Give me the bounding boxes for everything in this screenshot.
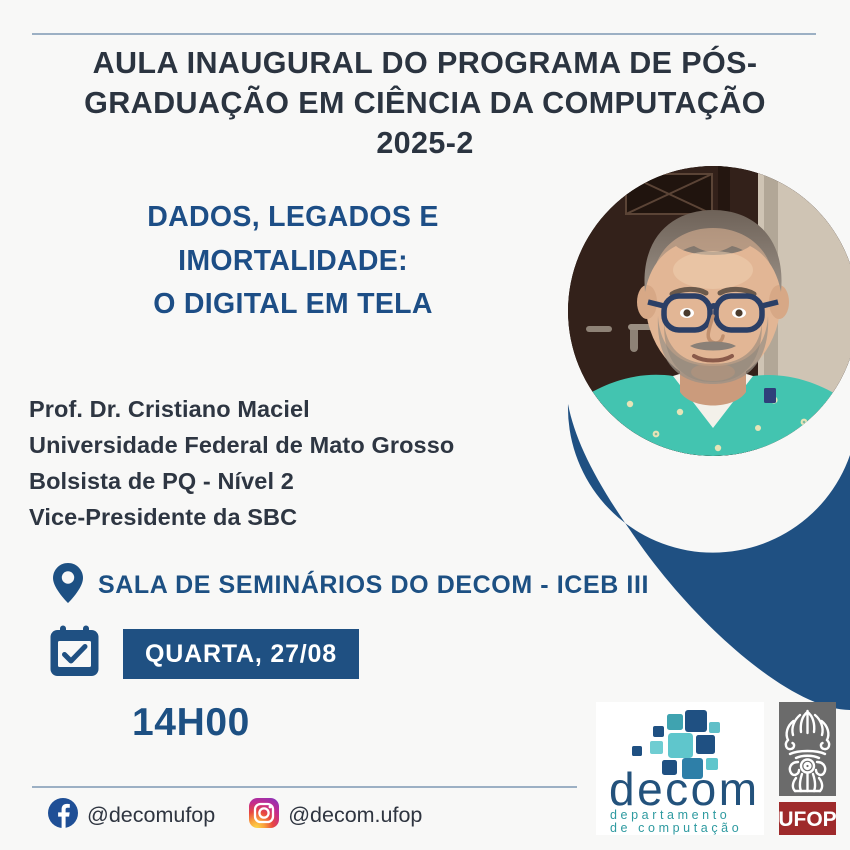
headline-line-2: GRADUAÇÃO EM CIÊNCIA DA COMPUTAÇÃO <box>55 84 795 124</box>
decom-logo: decom departamento de computação <box>596 702 764 835</box>
headline-line-1: AULA INAUGURAL DO PROGRAMA DE PÓS- <box>55 44 795 84</box>
map-pin-icon <box>52 562 84 609</box>
top-divider <box>32 33 816 35</box>
talk-title-line-1: DADOS, LEGADOS E <box>38 196 548 240</box>
speaker-role: Vice-Presidente da SBC <box>29 500 454 536</box>
facebook-link[interactable]: @decomufop <box>48 798 215 833</box>
facebook-icon[interactable] <box>48 798 78 833</box>
decom-tagline-1: departamento <box>610 808 730 822</box>
ufop-label: UFOP <box>778 808 836 831</box>
speaker-info: Prof. Dr. Cristiano Maciel Universidade … <box>29 392 454 536</box>
instagram-handle[interactable]: @decom.ufop <box>288 803 422 828</box>
event-poster: AULA INAUGURAL DO PROGRAMA DE PÓS- GRADU… <box>0 0 850 850</box>
facebook-handle[interactable]: @decomufop <box>87 803 215 828</box>
headline-line-3: 2025-2 <box>55 124 795 164</box>
instagram-icon[interactable] <box>249 798 279 833</box>
date-row: QUARTA, 27/08 <box>47 624 359 684</box>
speaker-affiliation: Universidade Federal de Mato Grosso <box>29 428 454 464</box>
talk-title: DADOS, LEGADOS E IMORTALIDADE: O DIGITAL… <box>38 196 548 327</box>
instagram-link[interactable]: @decom.ufop <box>249 798 422 833</box>
speaker-photo <box>568 166 850 456</box>
bottom-divider <box>32 786 577 788</box>
event-time: 14H00 <box>132 703 250 742</box>
date-badge: QUARTA, 27/08 <box>123 629 359 679</box>
talk-title-line-2: IMORTALIDADE: <box>38 240 548 284</box>
calendar-check-icon <box>47 624 102 684</box>
speaker-grant: Bolsista de PQ - Nível 2 <box>29 464 454 500</box>
speaker-name: Prof. Dr. Cristiano Maciel <box>29 392 454 428</box>
location-row: SALA DE SEMINÁRIOS DO DECOM - ICEB III <box>52 562 649 609</box>
location-text: SALA DE SEMINÁRIOS DO DECOM - ICEB III <box>98 571 649 600</box>
poster-headline: AULA INAUGURAL DO PROGRAMA DE PÓS- GRADU… <box>55 44 795 164</box>
ufop-logo: UFOP <box>776 702 839 835</box>
decom-tagline-2: de computação <box>610 821 742 835</box>
social-links: @decomufop <box>48 798 422 833</box>
talk-title-line-3: O DIGITAL EM TELA <box>38 283 548 327</box>
